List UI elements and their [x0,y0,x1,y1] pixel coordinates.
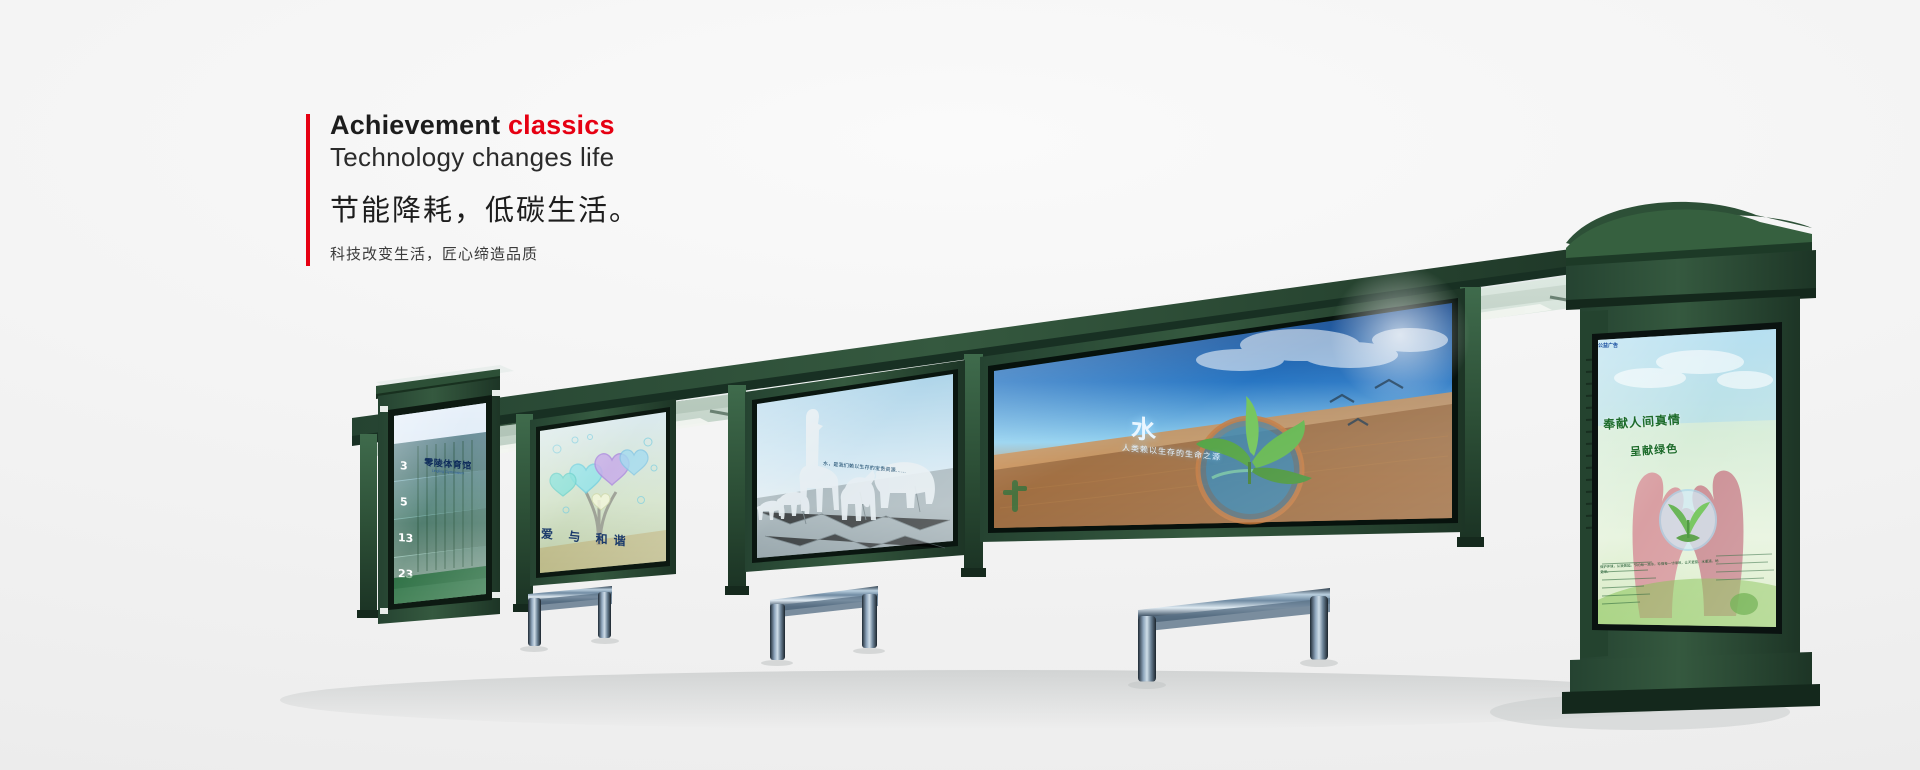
shelter-svg: 3 5 13 23 [0,0,1920,770]
bench-1 [520,586,619,652]
column-1 [360,434,377,614]
bench-2 [761,586,885,666]
poster-water-headline: 水 [1131,409,1156,447]
scene-background: Achievement classics Technology changes … [0,0,1920,770]
column-3 [728,385,746,590]
panel-heart-tree-lightbox[interactable] [530,399,676,586]
bus-shelter-render: 3 5 13 23 [0,0,1920,770]
panel-schedule-cabinet[interactable]: 3 5 13 23 [376,365,514,624]
poster-hands-logo: 公益广告 [1598,344,1632,370]
right-tower[interactable] [1562,202,1820,714]
